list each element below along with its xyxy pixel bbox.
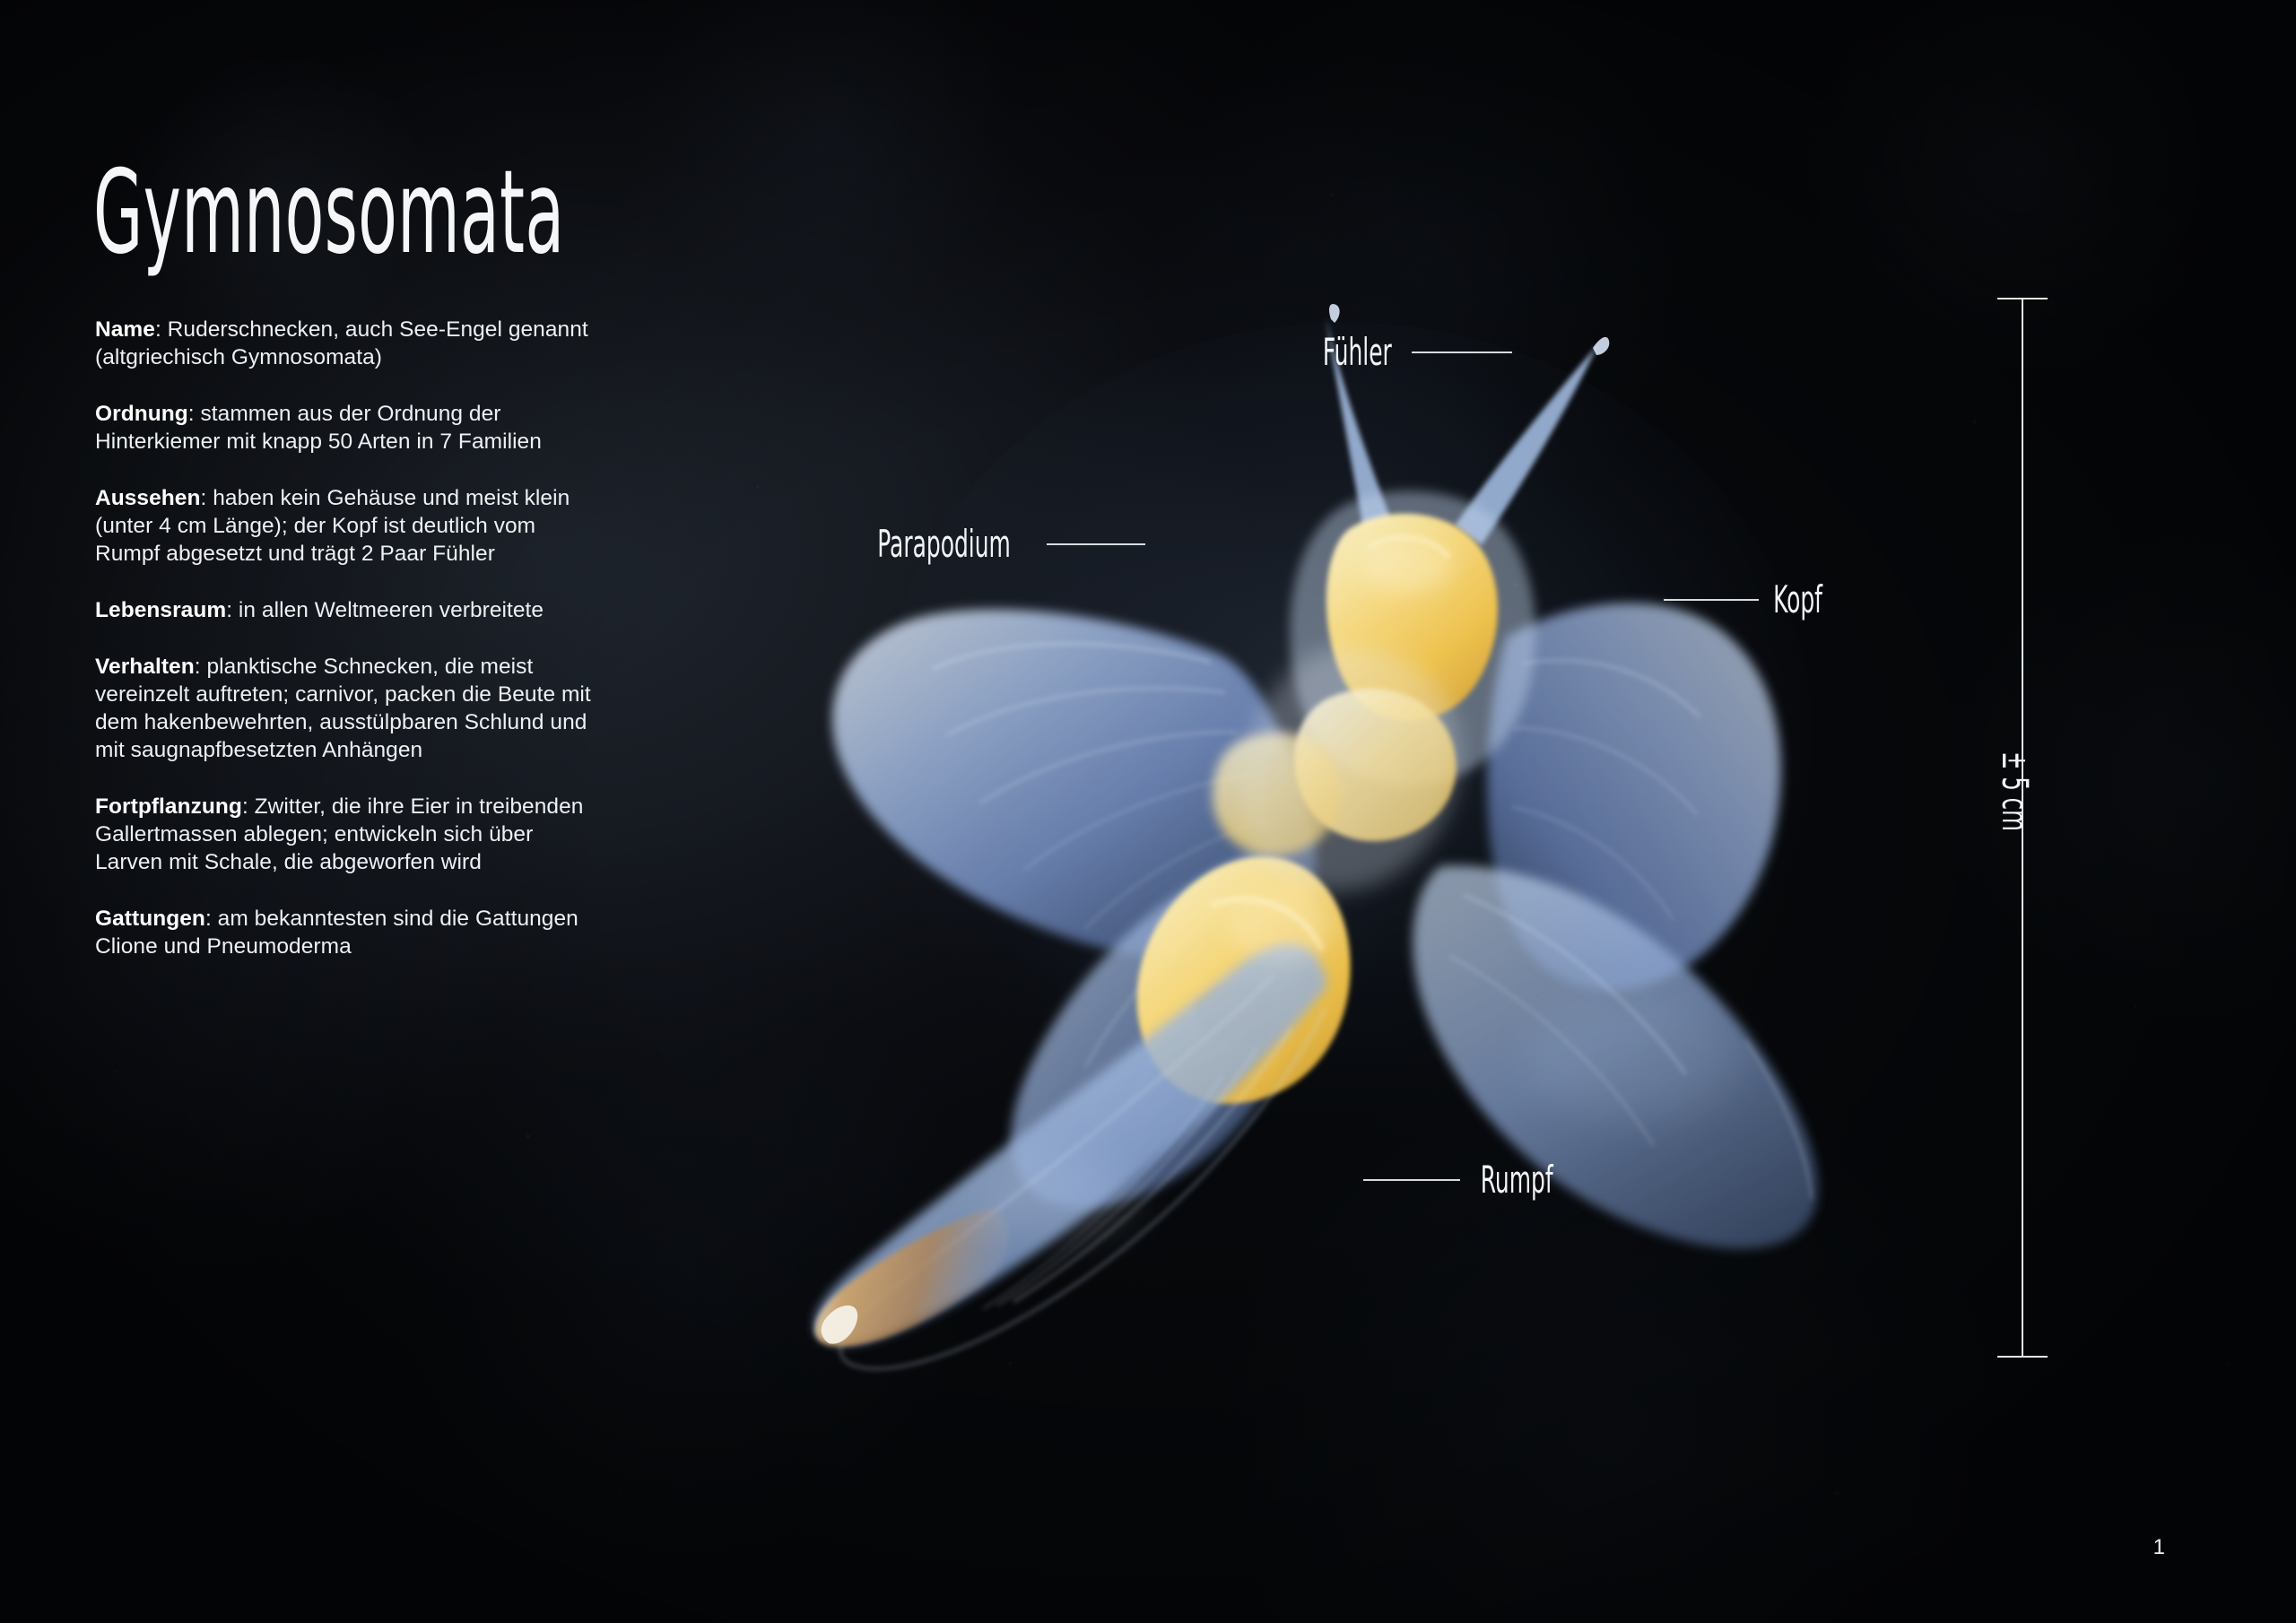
species-info-column: Name: Ruderschnecken, auch See-Engel gen… [95,316,597,989]
info-sep-gattungen: : [205,907,218,931]
leader-line-fuehler [1412,352,1512,353]
callout-rumpf: Rumpf [1363,1161,1571,1199]
info-block-fortpflanzung: Fortpflanzung: Zwitter, die ihre Eier in… [95,793,597,876]
info-block-lebensraum: Lebensraum: in allen Weltmeeren verbreit… [95,596,597,624]
info-block-gattungen: Gattungen: am bekanntesten sind die Gatt… [95,905,597,960]
info-block-verhalten: Verhalten: planktische Schnecken, die me… [95,653,597,764]
info-label-fortpflanzung: Fortpflanzung [95,794,242,819]
info-label-name: Name [95,317,155,342]
callout-parapodium: Parapodium [843,525,1145,563]
info-block-name: Name: Ruderschnecken, auch See-Engel gen… [95,316,597,371]
info-text-lebensraum: in allen Weltmeeren verbreitete [239,598,544,622]
page-number: 1 [2153,1537,2165,1558]
info-block-ordnung: Ordnung: stammen aus der Ordnung der Hin… [95,400,597,456]
info-label-lebensraum: Lebensraum [95,598,226,622]
page-title: Gymnosomata [93,156,564,271]
leader-line-kopf [1664,599,1759,601]
info-sep-ordnung: : [188,402,201,426]
callout-fuehler: Fühler [1305,334,1512,371]
scale-bar-cap-top [1997,298,2048,299]
callout-label-rumpf: Rumpf [1481,1161,1553,1199]
scale-bar-label: ± 5 cm [1996,751,2032,831]
callout-label-fuehler: Fühler [1323,334,1392,371]
leader-line-parapodium [1047,543,1145,545]
info-sep-fortpflanzung: : [242,794,255,819]
infographic-page: Gymnosomata Name: Ruderschnecken, auch S… [0,0,2296,1623]
info-sep-verhalten: : [195,655,207,679]
leader-line-rumpf [1363,1179,1460,1181]
info-label-gattungen: Gattungen [95,907,205,931]
info-sep-aussehen: : [201,486,213,510]
info-text-name: Ruderschnecken, auch See-Engel genannt (… [95,317,588,369]
info-sep-lebensraum: : [226,598,239,622]
info-block-aussehen: Aussehen: haben kein Gehäuse und meist k… [95,484,597,568]
callout-kopf: Kopf [1664,581,1835,619]
info-label-ordnung: Ordnung [95,402,188,426]
info-label-verhalten: Verhalten [95,655,195,679]
callout-label-parapodium: Parapodium [877,525,1011,563]
scale-bar-cap-bottom [1997,1356,2048,1358]
sea-angel-illustration [789,233,2045,1444]
info-label-aussehen: Aussehen [95,486,201,510]
callout-label-kopf: Kopf [1773,581,1822,619]
info-sep-name: : [155,317,168,342]
